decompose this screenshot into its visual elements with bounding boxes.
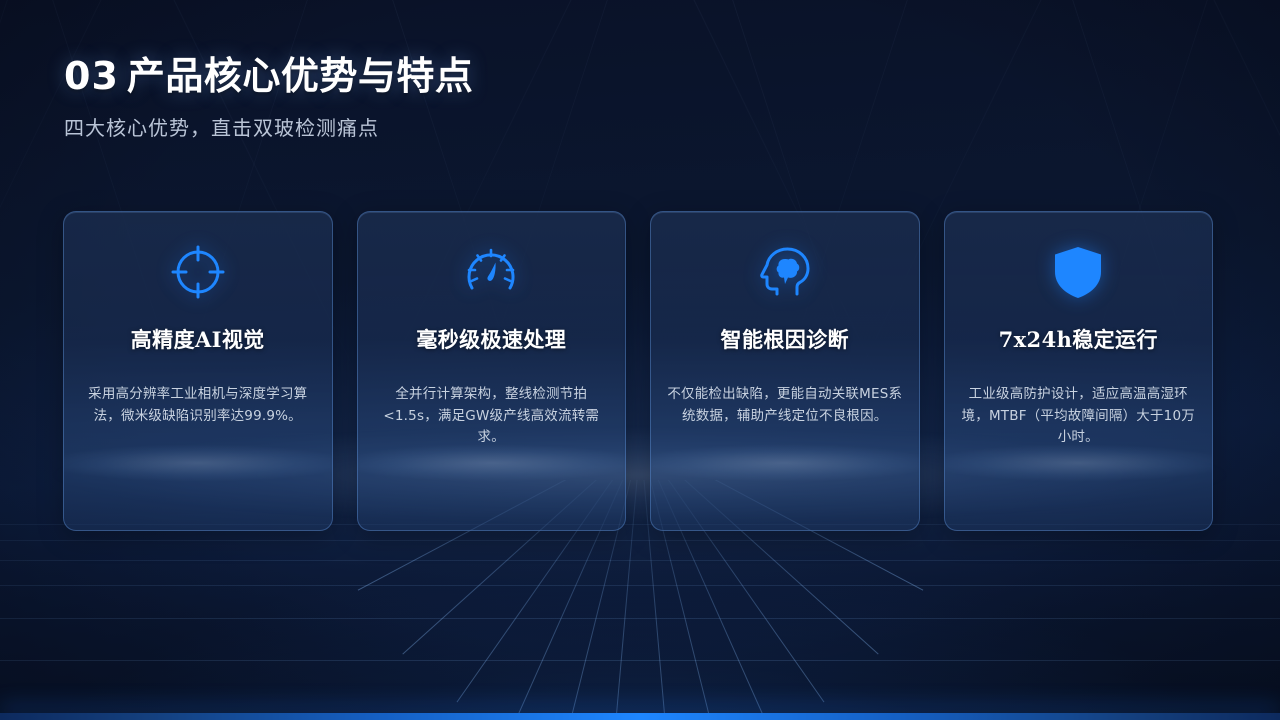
feature-card-description: 全并行计算架构，整线检测节拍<1.5s，满足GW级产线高效流转需求。: [373, 384, 609, 449]
page-title-text: 产品核心优势与特点: [127, 54, 474, 98]
feature-card-title: 毫秒级极速处理: [416, 326, 566, 354]
page-subtitle: 四大核心优势，直击双玻检测痛点: [64, 114, 473, 142]
section-number: 03: [64, 54, 119, 98]
feature-card-title: 高精度AI视觉: [131, 326, 265, 354]
feature-card-description: 不仅能检出缺陷，更能自动关联MES系统数据，辅助产线定位不良根因。: [667, 384, 903, 427]
page-title: 03产品核心优势与特点: [64, 52, 473, 100]
crosshair-target-icon: [166, 240, 230, 304]
head-brain-icon: [753, 240, 817, 304]
feature-card[interactable]: 毫秒级极速处理 全并行计算架构，整线检测节拍<1.5s，满足GW级产线高效流转需…: [357, 211, 627, 531]
feature-card[interactable]: 7x24h稳定运行 工业级高防护设计，适应高温高湿环境，MTBF（平均故障间隔）…: [944, 211, 1214, 531]
feature-card-description: 采用高分辨率工业相机与深度学习算法，微米级缺陷识别率达99.9%。: [80, 384, 316, 427]
feature-card-list: 高精度AI视觉 采用高分辨率工业相机与深度学习算法，微米级缺陷识别率达99.9%…: [63, 211, 1213, 531]
feature-card-description: 工业级高防护设计，适应高温高湿环境，MTBF（平均故障间隔）大于10万小时。: [960, 384, 1196, 449]
feature-card-title: 智能根因诊断: [721, 326, 849, 354]
shield-icon: [1046, 240, 1110, 304]
feature-card[interactable]: 高精度AI视觉 采用高分辨率工业相机与深度学习算法，微米级缺陷识别率达99.9%…: [63, 211, 333, 531]
slide-header: 03产品核心优势与特点 四大核心优势，直击双玻检测痛点: [64, 52, 473, 142]
feature-card-title: 7x24h稳定运行: [999, 326, 1158, 354]
speedometer-gauge-icon: [459, 240, 523, 304]
slide-canvas: 03产品核心优势与特点 四大核心优势，直击双玻检测痛点 高精度AI视觉 采用高分…: [0, 0, 1280, 720]
bottom-accent-bar: [0, 713, 1280, 720]
feature-card[interactable]: 智能根因诊断 不仅能检出缺陷，更能自动关联MES系统数据，辅助产线定位不良根因。: [650, 211, 920, 531]
